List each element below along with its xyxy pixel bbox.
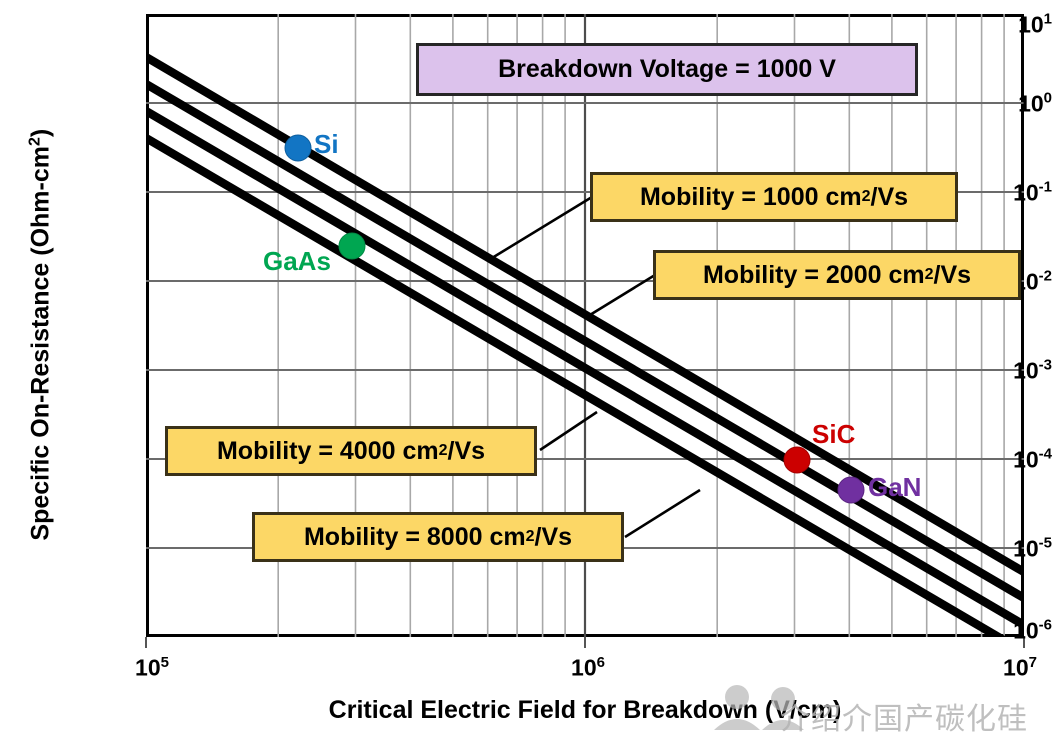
annotation-mobility-4000-tail: /Vs xyxy=(448,439,486,464)
y-tick-mantissa: 10 xyxy=(1013,357,1039,383)
y-tick-exponent: -3 xyxy=(1039,357,1052,374)
annotation-breakdown-voltage-text: Breakdown Voltage = 1000 V xyxy=(498,57,836,82)
y-tick-1e-6: 10-6 xyxy=(966,618,1052,643)
y-tick-exponent: -5 xyxy=(1039,535,1052,552)
watermark-text: 介绍介国产碳化硅 xyxy=(780,694,1028,738)
y-tick-exponent: -6 xyxy=(1039,617,1052,634)
y-axis-title-tail: ) xyxy=(27,129,55,137)
annotation-mobility-4000-sup: 2 xyxy=(439,443,448,459)
x-tick-mantissa: 10 xyxy=(1003,655,1029,681)
y-tick-exponent: 1 xyxy=(1044,11,1052,28)
x-tick-exponent: 7 xyxy=(1029,654,1037,671)
y-tick-exponent: -4 xyxy=(1039,446,1052,463)
y-tick-mantissa: 10 xyxy=(1018,11,1044,37)
annotation-mobility-1000: Mobility = 1000 cm2/Vs xyxy=(590,172,958,222)
axis-tick-marks xyxy=(146,637,1024,648)
y-tick-exponent: 0 xyxy=(1044,90,1052,107)
y-axis-title-text: Specific On-Resistance (Ohm-cm xyxy=(27,146,55,541)
y-tick-1e1: 101 xyxy=(966,12,1052,37)
x-tick-exponent: 6 xyxy=(597,654,605,671)
point-label-gaas: GaAs xyxy=(263,248,331,274)
annotation-mobility-4000-text: Mobility = 4000 cm xyxy=(217,439,439,464)
y-tick-1e0: 100 xyxy=(966,91,1052,116)
y-tick-mantissa: 10 xyxy=(1013,617,1039,643)
y-tick-mantissa: 10 xyxy=(1013,446,1039,472)
x-tick-1e7: 107 xyxy=(1003,655,1037,680)
annotation-mobility-8000-sup: 2 xyxy=(526,529,535,545)
annotation-mobility-8000-text: Mobility = 8000 cm xyxy=(304,525,526,550)
annotation-mobility-1000-sup: 2 xyxy=(862,189,871,205)
y-tick-1e-1: 10-1 xyxy=(966,180,1052,205)
y-tick-1e-4: 10-4 xyxy=(966,447,1052,472)
annotation-mobility-2000-tail: /Vs xyxy=(934,263,972,288)
annotation-mobility-4000: Mobility = 4000 cm2/Vs xyxy=(165,426,537,476)
y-tick-exponent: -2 xyxy=(1039,268,1052,285)
x-tick-mantissa: 10 xyxy=(571,655,597,681)
y-tick-1e-5: 10-5 xyxy=(966,536,1052,561)
point-label-si: Si xyxy=(314,131,339,157)
x-tick-1e6: 106 xyxy=(571,655,605,680)
y-axis-title-superscript: 2 xyxy=(26,137,43,146)
chart-figure: 101 100 10-1 10-2 10-3 10-4 10-5 10-6 10… xyxy=(0,0,1052,754)
y-tick-mantissa: 10 xyxy=(1013,535,1039,561)
annotation-mobility-2000: Mobility = 2000 cm2/Vs xyxy=(653,250,1021,300)
y-tick-mantissa: 10 xyxy=(1013,179,1039,205)
y-tick-exponent: -1 xyxy=(1039,179,1052,196)
y-tick-mantissa: 10 xyxy=(1018,90,1044,116)
annotation-breakdown-voltage: Breakdown Voltage = 1000 V xyxy=(416,43,918,96)
annotation-mobility-1000-text: Mobility = 1000 cm xyxy=(640,185,862,210)
annotation-mobility-8000: Mobility = 8000 cm2/Vs xyxy=(252,512,624,562)
point-label-gan: GaN xyxy=(868,474,921,500)
annotation-mobility-8000-tail: /Vs xyxy=(535,525,573,550)
x-tick-mantissa: 10 xyxy=(135,655,161,681)
annotation-mobility-2000-sup: 2 xyxy=(925,267,934,283)
y-tick-1e-3: 10-3 xyxy=(966,358,1052,383)
point-label-sic: SiC xyxy=(812,421,855,447)
y-axis-title: Specific On-Resistance (Ohm-cm2) xyxy=(26,55,55,615)
annotation-mobility-2000-text: Mobility = 2000 cm xyxy=(703,263,925,288)
x-tick-exponent: 5 xyxy=(161,654,169,671)
x-tick-1e5: 105 xyxy=(135,655,169,680)
annotation-mobility-1000-tail: /Vs xyxy=(871,185,909,210)
